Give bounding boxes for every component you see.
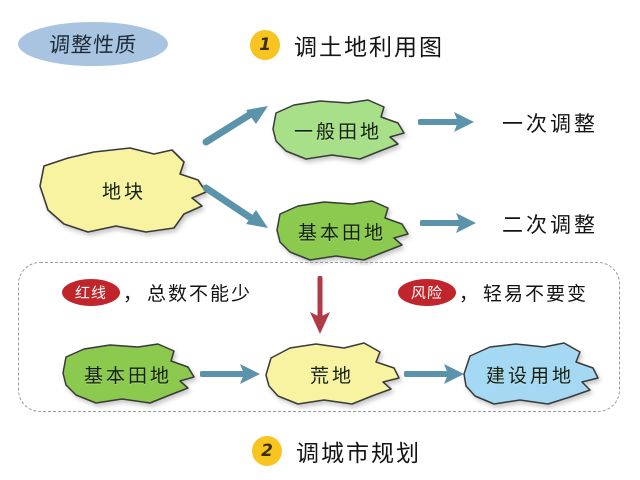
arrow-parcel-to-basic-farmland: [202, 180, 274, 232]
arrow-to-second-adjustment: [420, 209, 480, 237]
node-wasteland: 荒地: [262, 341, 402, 407]
node-construction-land: 建设用地: [460, 341, 600, 407]
node-general-farmland-label: 一般田地: [294, 117, 382, 144]
risk-comma: ，: [459, 279, 478, 306]
arrow-parcel-to-general-farmland: [202, 100, 274, 148]
risk-badge-label: 风险: [410, 282, 443, 303]
red-line-text: 总数不能少: [147, 279, 252, 306]
heading-two: 2 调城市规划: [252, 434, 421, 468]
heading-two-label: 调城市规划: [296, 434, 421, 468]
arrow-to-first-adjustment: [418, 108, 478, 136]
node-basic-farmland-bottom: 基本田地: [58, 341, 198, 407]
arrow-basic-farmland-to-wasteland: [200, 360, 264, 388]
red-line-comma: ，: [123, 279, 142, 306]
tag-risk: 风险 ， 轻易不要变: [398, 279, 588, 306]
arrow-wasteland-to-construction: [404, 360, 468, 388]
result-first-adjustment: 一次调整: [502, 108, 598, 138]
node-basic-farmland-bottom-label: 基本田地: [84, 361, 172, 388]
topic-pill: 调整性质: [18, 22, 168, 66]
tag-red-line: 红线 ， 总数不能少: [62, 279, 252, 306]
risk-text: 轻易不要变: [483, 279, 588, 306]
topic-pill-label: 调整性质: [48, 29, 138, 59]
heading-one: 1 调土地利用图: [250, 28, 444, 62]
node-wasteland-label: 荒地: [310, 361, 354, 388]
heading-one-number-badge: 1: [250, 30, 280, 60]
result-second-adjustment: 二次调整: [502, 209, 598, 239]
node-construction-land-label: 建设用地: [486, 361, 574, 388]
diagram-canvas: 调整性质 1 调土地利用图 地块 一般田地 基本田地: [0, 0, 640, 480]
node-general-farmland: 一般田地: [268, 97, 408, 163]
node-parcel: 地块: [34, 140, 214, 240]
heading-one-label: 调土地利用图: [294, 28, 444, 62]
node-parcel-label: 地块: [102, 177, 146, 204]
risk-badge: 风险: [398, 279, 456, 306]
node-basic-farmland-top: 基本田地: [272, 198, 412, 264]
node-basic-farmland-top-label: 基本田地: [298, 218, 386, 245]
red-line-badge-label: 红线: [74, 282, 107, 303]
arrow-red-downward: [305, 276, 335, 338]
red-line-badge: 红线: [62, 279, 120, 306]
heading-two-number-badge: 2: [252, 436, 282, 466]
